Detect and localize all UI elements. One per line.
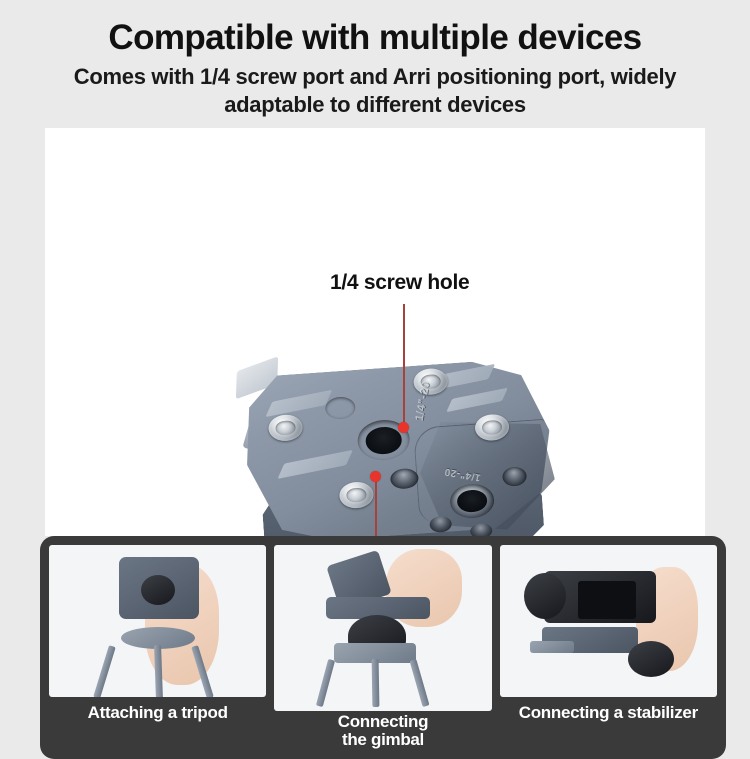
pointer-line-screw-hole	[403, 304, 405, 426]
gallery-image-tripod	[49, 545, 266, 697]
usage-gallery: Attaching a tripod Connecting the gimbal	[40, 536, 726, 759]
header: Compatible with multiple devices Comes w…	[0, 0, 750, 119]
gallery-caption-stabilizer: Connecting a stabilizer	[519, 704, 698, 722]
gallery-image-stabilizer	[500, 545, 717, 697]
gallery-caption-gimbal-line2: the gimbal	[338, 731, 429, 749]
gallery-image-gimbal	[274, 545, 491, 711]
callout-label-screw-hole: 1/4 screw hole	[330, 271, 469, 295]
pointer-dot-arri-holes	[370, 471, 381, 482]
gallery-caption-gimbal-line1: Connecting	[338, 713, 429, 731]
hero-card: 1/4"-20 1/4"-20 1/4 screw hole Arca Dove…	[45, 128, 705, 536]
gallery-caption-gimbal: Connecting the gimbal	[338, 713, 429, 749]
gallery-item-tripod[interactable]: Attaching a tripod	[49, 545, 266, 750]
page-subtitle: Comes with 1/4 screw port and Arri posit…	[0, 63, 750, 119]
gallery-item-gimbal[interactable]: Connecting the gimbal	[274, 545, 491, 750]
pointer-dot-screw-hole	[398, 422, 409, 433]
gallery-caption-tripod: Attaching a tripod	[88, 704, 228, 722]
infographic-root: Compatible with multiple devices Comes w…	[0, 0, 750, 750]
gallery-item-stabilizer[interactable]: Connecting a stabilizer	[500, 545, 717, 750]
page-title: Compatible with multiple devices	[0, 20, 750, 55]
